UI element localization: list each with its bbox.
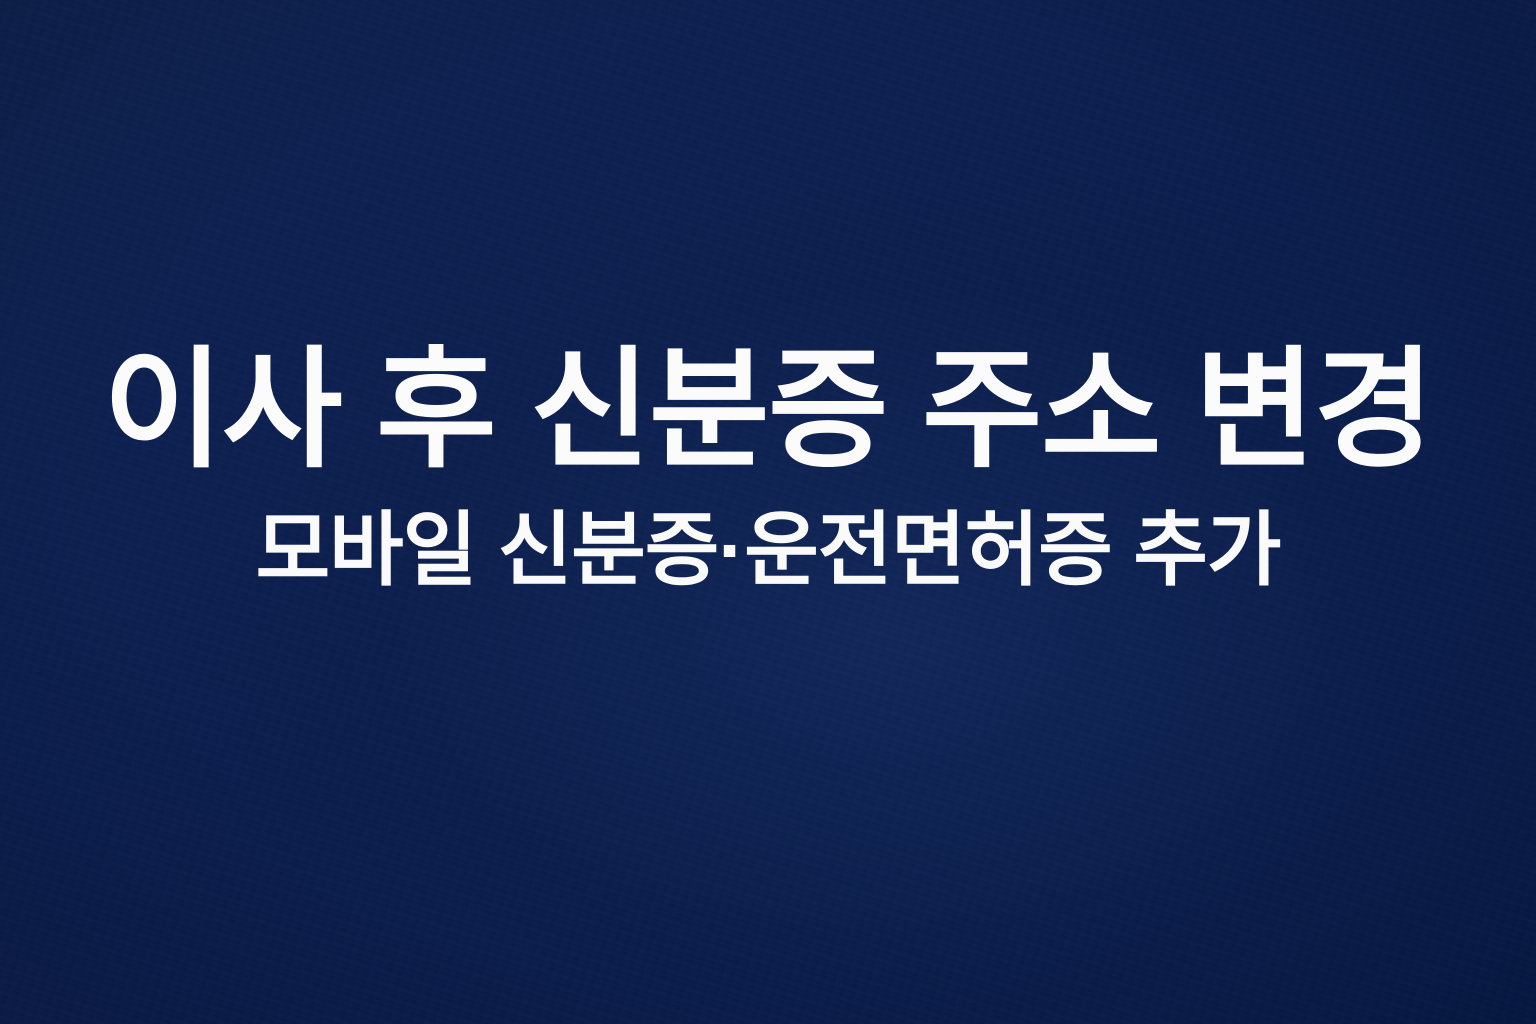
- title-text-block: 이사 후 신분증 주소 변경 모바일 신분증·운전면허증 추가: [0, 344, 1536, 592]
- headline-title: 이사 후 신분증 주소 변경: [103, 344, 1433, 475]
- thumbnail-canvas: 이사 후 신분증 주소 변경 모바일 신분증·운전면허증 추가: [0, 0, 1536, 1024]
- subheadline-text: 모바일 신분증·운전면허증 추가: [256, 475, 1281, 592]
